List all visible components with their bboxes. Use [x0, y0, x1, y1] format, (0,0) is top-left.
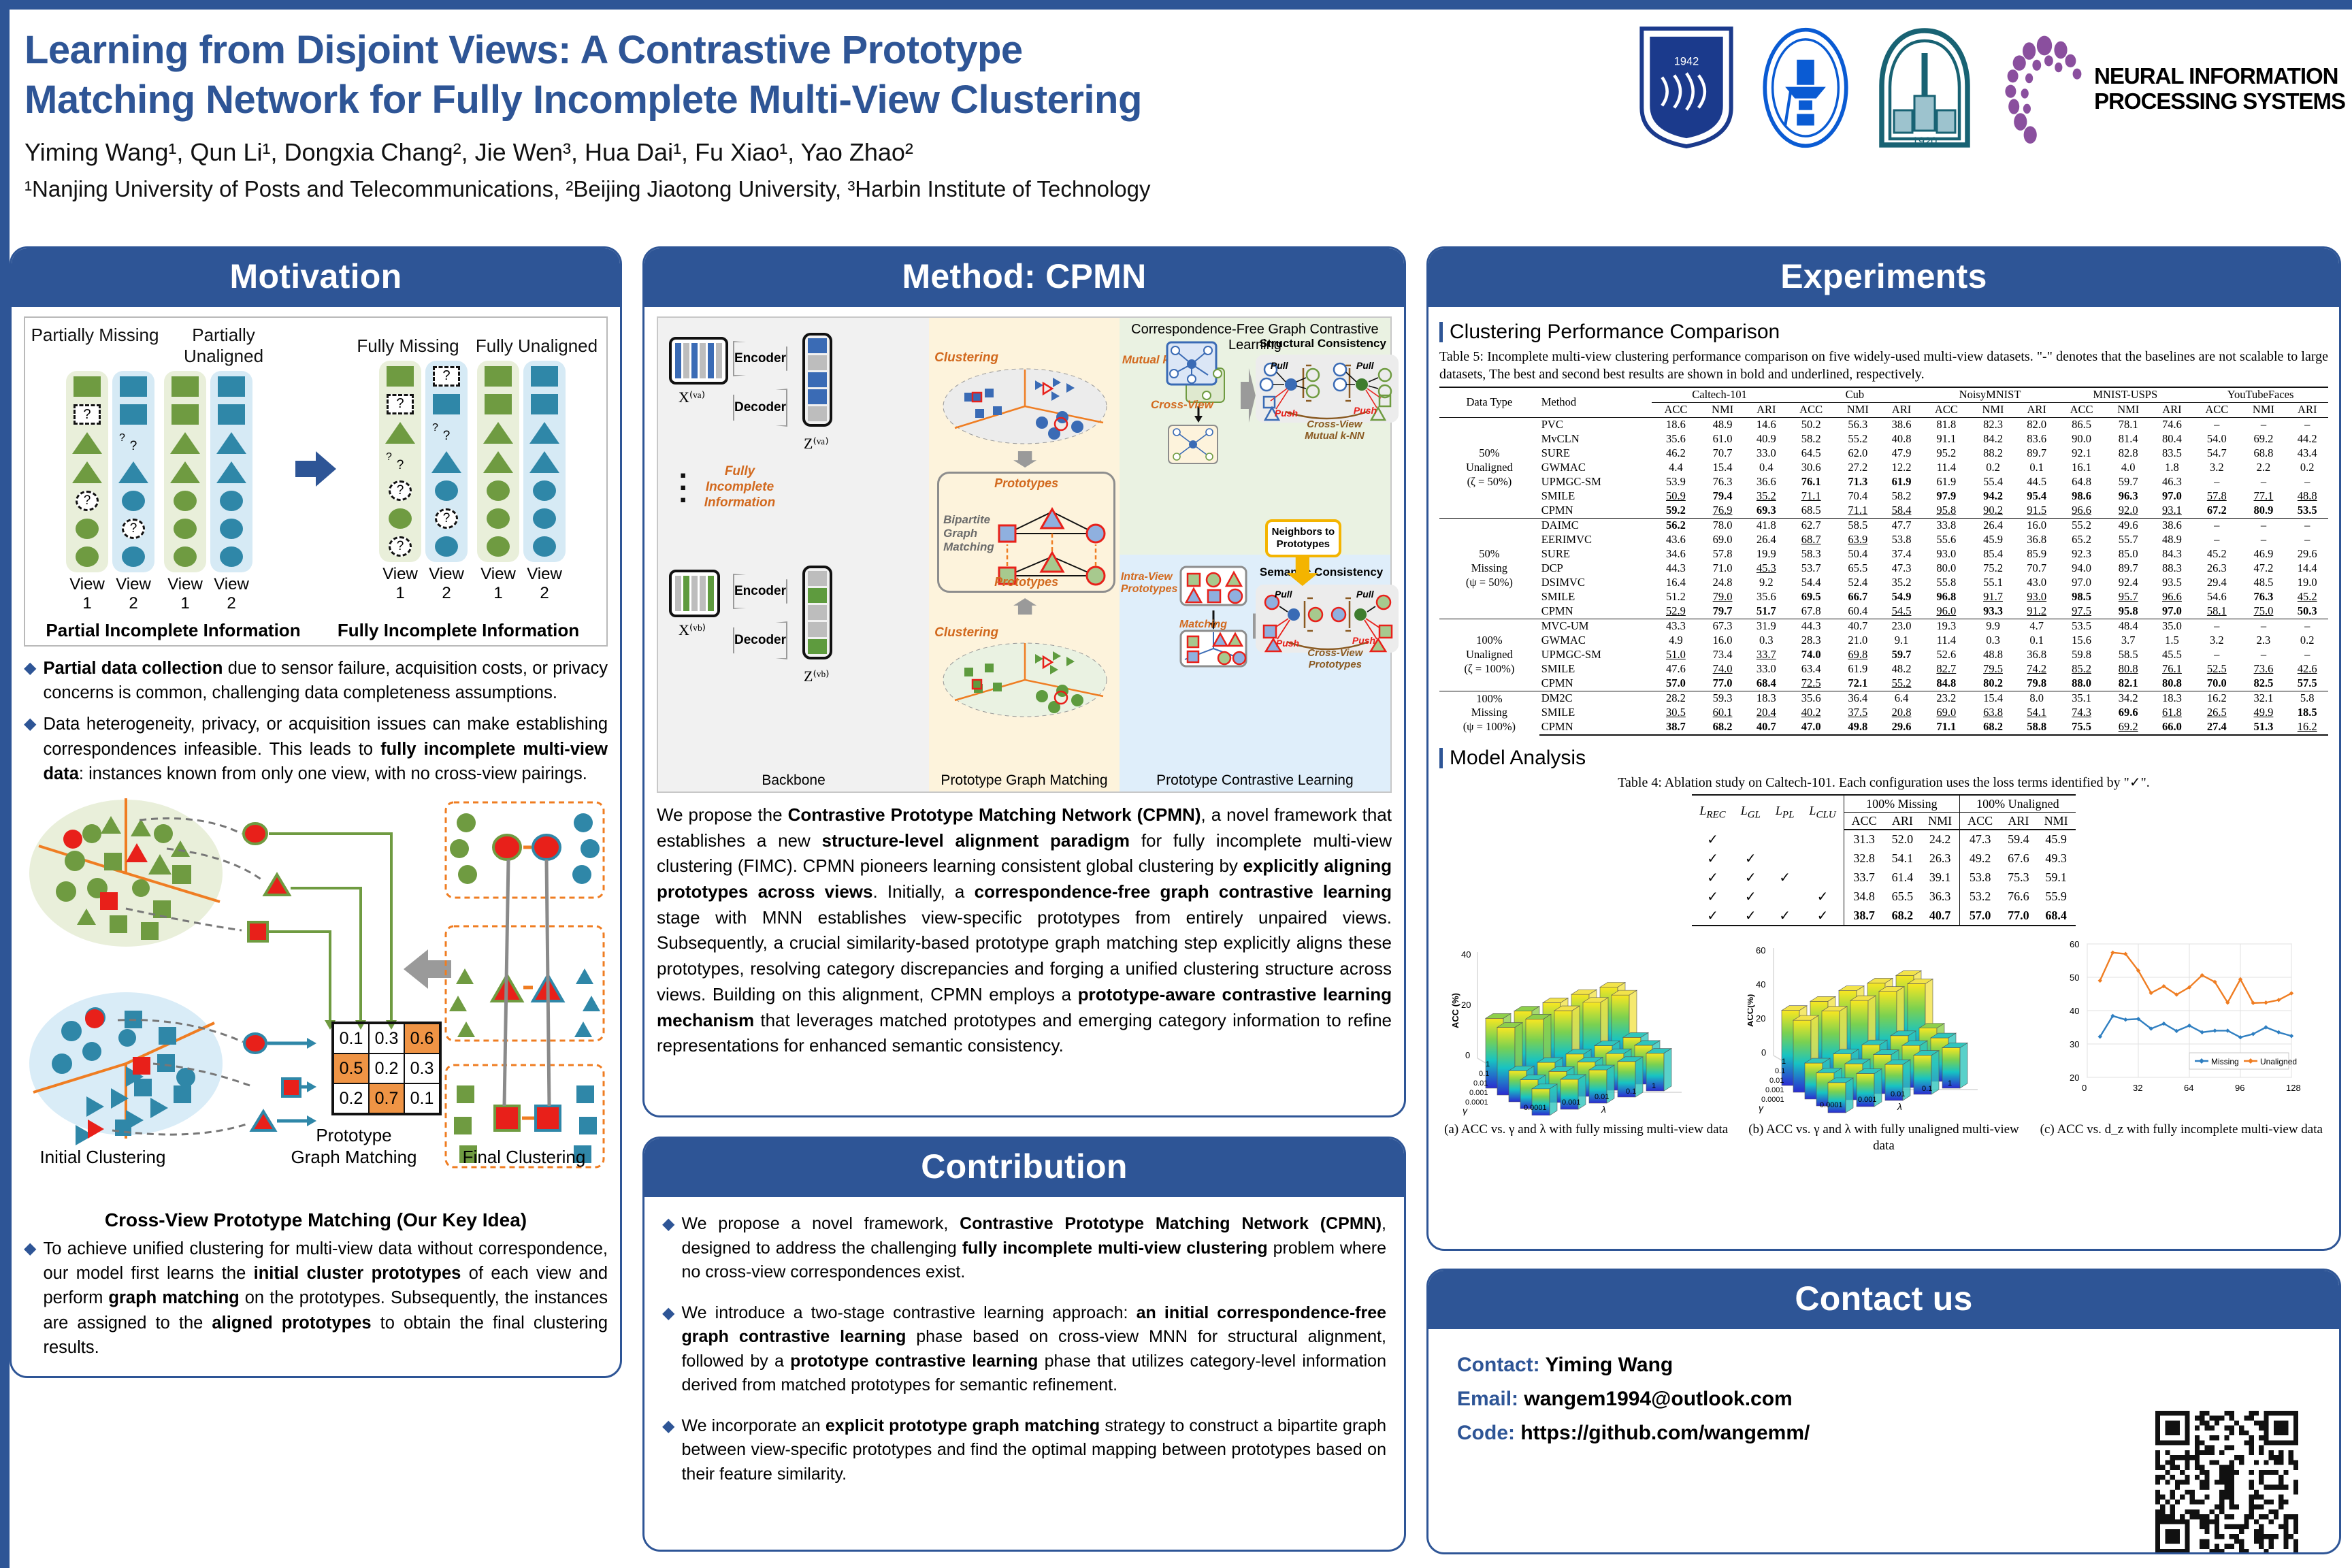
- metric-cell: 85.4: [1970, 547, 2016, 561]
- table-row: DSIMVC16.424.89.254.452.435.255.855.143.…: [1439, 576, 2328, 590]
- ablation-table-body: ✓31.352.024.247.359.445.9✓✓32.854.126.34…: [1692, 830, 2075, 926]
- dataset-header: YouTubeFaces: [2193, 387, 2328, 403]
- metric-cell: 38.7: [1652, 720, 1699, 735]
- njupt-logo: 1942: [1635, 24, 1737, 154]
- cb-1-0: We introduce a two-stage contrastive lea…: [681, 1303, 1136, 1322]
- metric-cell: 52.4: [1835, 576, 1880, 590]
- metric-cell: 91.2: [2016, 604, 2057, 619]
- metric-cell: 37.4: [1880, 547, 1922, 561]
- metric-cell: 51.7: [1746, 604, 1787, 619]
- ablation-value: 57.0: [1960, 906, 2001, 926]
- x-tick: 0.0001: [1524, 1104, 1547, 1112]
- metric-cell: 29.4: [2193, 576, 2240, 590]
- bullet-item: ◆ We propose a novel framework, Contrast…: [662, 1212, 1386, 1285]
- metric-cell: 57.5: [2286, 676, 2328, 691]
- method-cell: UPMGC-SM: [1539, 475, 1652, 489]
- ablation-value: 76.6: [2000, 887, 2037, 906]
- table-row: 50%Unaligned(ζ = 50%)PVC18.648.914.650.2…: [1439, 417, 2328, 432]
- push-label: Push: [1352, 635, 1375, 646]
- table-row: GWMAC4.916.00.328.321.09.111.40.30.115.6…: [1439, 634, 2328, 648]
- table-row: UPMGC-SM53.976.336.676.171.361.961.955.4…: [1439, 475, 2328, 489]
- table-row: CPMN52.979.751.767.860.454.596.093.391.2…: [1439, 604, 2328, 619]
- metric-cell: 57.8: [2193, 489, 2240, 504]
- y-tick: 20: [2070, 1073, 2079, 1083]
- table-row: EERIMVC43.669.026.468.763.953.855.645.93…: [1439, 533, 2328, 547]
- chart-c-caption: (c) ACC vs. d_z with fully incomplete mu…: [2035, 1122, 2328, 1138]
- metric-cell: 16.0: [1700, 634, 1746, 648]
- metric-cell: 19.0: [2286, 576, 2328, 590]
- ablation-value: 67.6: [2000, 849, 2037, 868]
- check-cell: ✓: [1768, 906, 1802, 926]
- metric-cell: 84.2: [1970, 432, 2016, 446]
- metric-cell: 74.3: [2057, 706, 2105, 720]
- prototype-contrastive-learning-block: Intra-View Prototypes: [1120, 555, 1390, 791]
- metric-cell: 28.2: [1652, 691, 1699, 706]
- diamond-bullet-icon: ◆: [24, 656, 36, 705]
- metric-cell: –: [2240, 533, 2286, 547]
- metric-cell: 96.6: [2151, 590, 2193, 604]
- x-tick: 0.001: [1562, 1098, 1581, 1107]
- ablation-metric: NMI: [1921, 813, 1960, 830]
- metric-cell: 81.8: [1923, 417, 1970, 432]
- bjtu-logo: [1762, 27, 1849, 152]
- matrix-cell: 0.1: [333, 1024, 369, 1053]
- bullet-item: ◆ We incorporate an explicit prototype g…: [662, 1414, 1386, 1487]
- x-tick: 0.0001: [1820, 1101, 1843, 1109]
- metric-cell: 28.3: [1787, 634, 1835, 648]
- metric-cell: 69.8: [1835, 648, 1880, 662]
- results-table: Data Type Method Caltech-101 Cub NoisyMN…: [1439, 387, 2328, 736]
- metric-cell: 16.2: [2286, 720, 2328, 735]
- metric-header: NMI: [1700, 402, 1746, 417]
- pcl-label: Prototype Contrastive Learning: [1120, 772, 1390, 789]
- ablation-value: 47.3: [1960, 830, 2001, 849]
- metric-cell: 0.2: [1970, 461, 2016, 475]
- fully-unaligned-label: Fully Unaligned: [472, 336, 601, 357]
- y-tick: 0.0001: [1465, 1098, 1488, 1107]
- metric-cell: 48.9: [1700, 417, 1746, 432]
- metric-cell: 95.7: [2106, 590, 2151, 604]
- metric-cell: 91.1: [1923, 432, 1970, 446]
- metric-cell: 29.6: [2286, 547, 2328, 561]
- metric-cell: 68.8: [2240, 446, 2286, 461]
- bullet-item: ◆ To achieve unified clustering for mult…: [24, 1237, 608, 1360]
- ablation-value: 36.3: [1921, 887, 1960, 906]
- metric-cell: 35.0: [2151, 619, 2193, 634]
- metric-cell: 85.2: [2057, 662, 2105, 676]
- y-tick: 30: [2070, 1039, 2079, 1049]
- metric-cell: 82.3: [1970, 417, 2016, 432]
- code-value[interactable]: https://github.com/wangemm/: [1515, 1422, 1810, 1444]
- fully-missing-label: Fully Missing: [344, 336, 472, 357]
- y-tick: 0.1: [1479, 1070, 1489, 1078]
- metric-cell: 96.3: [2106, 489, 2151, 504]
- metric-cell: 91.5: [2016, 504, 2057, 519]
- intra-view-prototypes-label: Intra-View Prototypes: [1121, 571, 1178, 596]
- metric-cell: 61.0: [1700, 432, 1746, 446]
- metric-cell: 14.6: [1746, 417, 1787, 432]
- table-row: DCP44.371.045.353.765.547.380.075.270.79…: [1439, 561, 2328, 576]
- metric-cell: 16.2: [2193, 691, 2240, 706]
- metric-cell: 93.0: [2016, 590, 2057, 604]
- ablation-row: ✓✓32.854.126.349.267.649.3: [1692, 849, 2075, 868]
- fully-incomplete-figure: Fully Missing Fully Unaligned ???? ???: [344, 336, 601, 603]
- table-row: CPMN38.768.240.747.049.829.671.168.258.8…: [1439, 720, 2328, 735]
- metric-cell: 96.8: [1923, 590, 1970, 604]
- ablation-value: 65.5: [1884, 887, 1921, 906]
- metric-cell: 74.0: [1787, 648, 1835, 662]
- metric-cell: 92.4: [2106, 576, 2151, 590]
- metric-cell: 47.3: [1880, 561, 1922, 576]
- pull-label: Pull: [1275, 589, 1292, 600]
- analysis-charts: 40 20 0 ACC (%) 10.1 0.010.001 0.0001 γ …: [1439, 932, 2328, 1154]
- metric-cell: 79.4: [1700, 489, 1746, 504]
- metric-cell: 53.8: [1880, 533, 1922, 547]
- clustering-performance-subheading: Clustering Performance Comparison: [1439, 321, 2328, 344]
- line-acc-vs-dz: 20304050600326496128 Missing Unaligned: [2045, 932, 2317, 1115]
- left-accent-bar: [0, 0, 10, 1568]
- metric-header: ACC: [1652, 402, 1699, 417]
- metric-cell: 56.3: [1835, 417, 1880, 432]
- key-idea-svg: [24, 793, 610, 1174]
- results-table-body: 50%Unaligned(ζ = 50%)PVC18.648.914.650.2…: [1439, 417, 2328, 735]
- down-arrow-icon: [1013, 451, 1036, 468]
- metric-cell: 23.2: [1923, 691, 1970, 706]
- bipartite-graph-matching-label: Bipartite Graph Matching: [943, 513, 988, 554]
- ablation-row: ✓31.352.024.247.359.445.9: [1692, 830, 2075, 849]
- metric-cell: 53.5: [2057, 619, 2105, 634]
- metric-cell: 57.0: [1652, 676, 1699, 691]
- matrix-cell: 0.2: [333, 1083, 369, 1113]
- metric-cell: 52.6: [1923, 648, 1970, 662]
- metric-cell: –: [2240, 518, 2286, 533]
- decoder-a: Decoder: [733, 389, 787, 427]
- method-heading: Method: CPMN: [644, 248, 1404, 307]
- metric-cell: 40.9: [1746, 432, 1787, 446]
- check-cell: [1801, 868, 1844, 887]
- xlabel: λ: [1601, 1104, 1606, 1115]
- data-type-cell: 100%Unaligned(ζ = 100%): [1439, 619, 1539, 691]
- metric-cell: 89.7: [2106, 561, 2151, 576]
- metric-cell: 51.0: [1652, 648, 1699, 662]
- ablation-value: 26.3: [1921, 849, 1960, 868]
- chart-a-caption: (a) ACC vs. γ and λ with fully missing m…: [1439, 1122, 1733, 1138]
- zlabel: ACC(%): [1748, 994, 1755, 1027]
- metric-cell: 35.2: [1746, 489, 1787, 504]
- metric-cell: 9.1: [1880, 634, 1922, 648]
- metric-cell: 74.2: [2016, 662, 2057, 676]
- metric-cell: 43.3: [1652, 619, 1699, 634]
- metric-cell: 20.4: [1746, 706, 1787, 720]
- check-cell: ✓: [1801, 906, 1844, 926]
- ablation-value: 24.2: [1921, 830, 1960, 849]
- metric-cell: 79.5: [1970, 662, 2016, 676]
- metric-cell: 34.6: [1652, 547, 1699, 561]
- method-cell: SMILE: [1539, 590, 1652, 604]
- metric-cell: 36.6: [1746, 475, 1787, 489]
- metric-cell: 44.2: [2286, 432, 2328, 446]
- metric-cell: 55.2: [2057, 518, 2105, 533]
- metric-cell: 11.4: [1923, 634, 1970, 648]
- metric-cell: 75.5: [2057, 720, 2105, 735]
- matrix-cell: 0.5: [333, 1053, 369, 1083]
- latent-z-a: [802, 333, 832, 427]
- legend-unaligned: Unaligned: [2260, 1057, 2297, 1066]
- z-tick-60: 60: [1756, 945, 1765, 955]
- mb7: correspondence-free graph contrastive le…: [975, 881, 1392, 902]
- metric-cell: 40.2: [1787, 706, 1835, 720]
- metric-cell: 97.5: [2057, 604, 2105, 619]
- metric-cell: 95.2: [1923, 446, 1970, 461]
- metric-cell: 53.7: [1787, 561, 1835, 576]
- semantic-consistency-label: Semantic Consistency: [1260, 566, 1383, 579]
- ablation-value: 53.8: [1960, 868, 2001, 887]
- svg-text:1942: 1942: [1674, 56, 1699, 68]
- metric-cell: 11.4: [1923, 461, 1970, 475]
- view1-label: View 1: [477, 565, 519, 603]
- neurips-logo: NEURAL INFORMATION PROCESSING SYSTEMS: [2000, 35, 2345, 144]
- metric-cell: 47.0: [1787, 720, 1835, 735]
- z-tick-0: 0: [1761, 1047, 1766, 1058]
- metric-cell: 45.3: [1746, 561, 1787, 576]
- diamond-bullet-icon: ◆: [662, 1301, 674, 1398]
- cross-view-prototype-figure: 0.1 0.3 0.6 0.5 0.2 0.3 0.2 0.7 0.1 Init…: [24, 793, 608, 1208]
- metric-cell: 58.3: [1787, 547, 1835, 561]
- metric-cell: 2.3: [2240, 634, 2286, 648]
- final-clustering-label: Final Clustering: [446, 1147, 602, 1168]
- ylabel: γ: [1463, 1105, 1468, 1115]
- table-row: SURE34.657.819.958.350.437.493.085.485.9…: [1439, 547, 2328, 561]
- ablation-value: 59.4: [2000, 830, 2037, 849]
- check-cell: ✓: [1692, 868, 1733, 887]
- metric-cell: 68.4: [1746, 676, 1787, 691]
- metric-cell: 68.5: [1787, 504, 1835, 519]
- metric-cell: 97.0: [2151, 604, 2193, 619]
- encoder-b: Encoder: [733, 574, 787, 609]
- email-value[interactable]: wangem1994@outlook.com: [1518, 1388, 1793, 1410]
- contact-name-row: Contact: Yiming Wang: [1457, 1354, 2316, 1377]
- metric-cell: 62.7: [1787, 518, 1835, 533]
- motivation-heading: Motivation: [12, 248, 620, 307]
- method-cell: SMILE: [1539, 489, 1652, 504]
- partially-unaligned-label: Partially Unaligned: [159, 325, 288, 367]
- metric-cell: 59.2: [1652, 504, 1699, 519]
- data-type-cell: 50%Missing(ψ = 50%): [1439, 518, 1539, 619]
- metric-header: ARI: [1746, 402, 1787, 417]
- contact-panel: Contact us Contact: Yiming Wang Email: w…: [1426, 1269, 2341, 1554]
- check-cell: ✓: [1733, 849, 1768, 868]
- x-tick: 32: [2133, 1083, 2142, 1093]
- pull-label: Pull: [1356, 589, 1374, 600]
- metric-cell: 18.3: [2151, 691, 2193, 706]
- metric-cell: 16.1: [2057, 461, 2105, 475]
- metric-cell: –: [2240, 475, 2286, 489]
- matrix-cell: 0.6: [404, 1024, 440, 1053]
- metric-cell: 74.0: [1700, 662, 1746, 676]
- metric-cell: 41.8: [1746, 518, 1787, 533]
- metric-cell: 95.8: [2106, 604, 2151, 619]
- metric-cell: 75.2: [1970, 561, 2016, 576]
- metric-cell: 98.5: [2057, 590, 2105, 604]
- y-tick: 50: [2070, 973, 2079, 983]
- metric-cell: 45.9: [1970, 533, 2016, 547]
- metric-cell: 77.0: [1700, 676, 1746, 691]
- bullet-item: ◆ Partial data collection due to sensor …: [24, 656, 608, 705]
- col-datatype: Data Type: [1439, 387, 1539, 418]
- metric-cell: 68.2: [1970, 720, 2016, 735]
- metric-cell: 15.4: [1970, 691, 2016, 706]
- metric-cell: 57.8: [1700, 547, 1746, 561]
- metric-cell: 50.3: [2286, 604, 2328, 619]
- metric-cell: –: [2193, 518, 2240, 533]
- partial-incomplete-figure: Partially Missing Partially Unaligned ??…: [31, 325, 288, 613]
- dataset-header: Cub: [1787, 387, 1923, 403]
- structural-consistency-label: Structural Consistency: [1260, 337, 1406, 350]
- metric-cell: 65.5: [1835, 561, 1880, 576]
- final-bullet-s1: initial cluster prototypes: [254, 1264, 461, 1283]
- dataset-header: MNIST-USPS: [2057, 387, 2193, 403]
- metric-cell: 78.1: [2106, 417, 2151, 432]
- chart-b: 60 40 20 0 ACC(%) 10.1 0.010.001 0.0001 …: [1737, 932, 2030, 1154]
- mb3: structure-level alignment paradigm: [822, 830, 1130, 851]
- metric-cell: 35.6: [1652, 432, 1699, 446]
- metric-cell: 4.0: [2106, 461, 2151, 475]
- metric-header: NMI: [2240, 402, 2286, 417]
- metric-cell: 80.0: [1923, 561, 1970, 576]
- neighbors-to-prototypes-callout: Neighbors to Prototypes: [1265, 519, 1341, 557]
- metric-cell: 45.2: [2193, 547, 2240, 561]
- ablation-value: 55.9: [2037, 887, 2076, 906]
- dataset-header: NoisyMNIST: [1923, 387, 2058, 403]
- ablation-value: 59.1: [2037, 868, 2076, 887]
- x-tick: 0.1: [1626, 1088, 1636, 1096]
- metric-cell: 69.5: [1787, 590, 1835, 604]
- input-x-b: [669, 570, 720, 617]
- metric-cell: 15.6: [2057, 634, 2105, 648]
- metric-cell: 43.4: [2286, 446, 2328, 461]
- method-cell: DSIMVC: [1539, 576, 1652, 590]
- metric-header: ARI: [2286, 402, 2328, 417]
- fully-incomplete-note: Fully Incomplete Information: [699, 464, 781, 510]
- metric-cell: 9.2: [1746, 576, 1787, 590]
- metric-cell: 3.2: [2193, 461, 2240, 475]
- contact-email-row[interactable]: Email: wangem1994@outlook.com: [1457, 1388, 2316, 1411]
- metric-cell: 49.8: [1835, 720, 1880, 735]
- clustering-label-top: Clustering: [934, 350, 998, 365]
- ablation-value: 53.2: [1960, 887, 2001, 906]
- metric-cell: 67.8: [1787, 604, 1835, 619]
- metric-cell: 3.2: [2193, 634, 2240, 648]
- metric-cell: 35.6: [1787, 691, 1835, 706]
- metric-cell: 79.8: [2016, 676, 2057, 691]
- metric-cell: 68.2: [1700, 720, 1746, 735]
- metric-cell: 58.5: [1835, 518, 1880, 533]
- metric-cell: 46.3: [2151, 475, 2193, 489]
- metric-cell: 4.9: [1652, 634, 1699, 648]
- table-row: MvCLN35.661.040.958.255.240.891.184.283.…: [1439, 432, 2328, 446]
- motivation-panel: Motivation Partially Missing Partially U…: [10, 246, 622, 1378]
- qr-code[interactable]: [2155, 1411, 2298, 1554]
- clustering-label-bottom: Clustering: [934, 625, 998, 640]
- top-cluster-scatter: [933, 365, 1117, 447]
- metric-cell: 82.1: [2106, 676, 2151, 691]
- method-cell: CPMN: [1539, 504, 1652, 519]
- motivation-figure: Partially Missing Partially Unaligned ??…: [24, 316, 608, 647]
- metric-cell: –: [2286, 518, 2328, 533]
- code-key: Code:: [1457, 1422, 1515, 1444]
- metric-cell: 30.5: [1652, 706, 1699, 720]
- metric-cell: 61.8: [2151, 706, 2193, 720]
- table-row: SMILE30.560.120.440.237.520.869.063.854.…: [1439, 706, 2328, 720]
- method-cell: CPMN: [1539, 604, 1652, 619]
- metric-cell: 85.0: [2106, 547, 2151, 561]
- metric-cell: 15.4: [1700, 461, 1746, 475]
- email-key: Email:: [1457, 1388, 1518, 1410]
- metric-cell: 83.6: [2016, 432, 2057, 446]
- metric-header: ARI: [1880, 402, 1922, 417]
- cb-1-3: prototype contrastive learning: [790, 1352, 1038, 1371]
- x-tick: 96: [2235, 1083, 2244, 1093]
- metric-cell: 26.4: [1746, 533, 1787, 547]
- metric-cell: 51.3: [2240, 720, 2286, 735]
- metric-cell: 97.0: [2151, 489, 2193, 504]
- metric-cell: 83.5: [2151, 446, 2193, 461]
- ablation-group-unaligned: 100% Unaligned: [1960, 795, 2076, 813]
- input-x-a: [669, 337, 728, 385]
- decoder-b: Decoder: [733, 621, 787, 659]
- bar3d-unaligned: 60 40 20 0 ACC(%) 10.1 0.010.001 0.0001 …: [1748, 932, 2020, 1115]
- metric-cell: 58.2: [1787, 432, 1835, 446]
- zlabel: ACC (%): [1450, 993, 1460, 1028]
- cross-view-mutual-knn-label: Cross-View Mutual k-NN: [1294, 419, 1375, 442]
- metric-cell: 47.9: [1880, 446, 1922, 461]
- metric-cell: 0.1: [2016, 461, 2057, 475]
- table-row: GWMAC4.415.40.430.627.212.211.40.20.116.…: [1439, 461, 2328, 475]
- method-cell: MvCLN: [1539, 432, 1652, 446]
- metric-cell: 80.8: [2151, 676, 2193, 691]
- table-row: CPMN57.077.068.472.572.155.284.880.279.8…: [1439, 676, 2328, 691]
- metric-cell: 51.2: [1652, 590, 1699, 604]
- final-bullet-s2: graph matching: [108, 1288, 239, 1307]
- method-cell: MVC-UM: [1539, 619, 1652, 634]
- ablation-value: 45.9: [2037, 830, 2076, 849]
- view2-label: View 2: [425, 565, 468, 603]
- metric-cell: 48.2: [1880, 662, 1922, 676]
- metric-cell: 19.9: [1746, 547, 1787, 561]
- partial-incomplete-caption: Partial Incomplete Information: [31, 620, 316, 641]
- metric-cell: 95.8: [1923, 504, 1970, 519]
- ylabel: γ: [1759, 1102, 1764, 1113]
- metric-cell: 92.1: [2057, 446, 2105, 461]
- metric-cell: 89.7: [2016, 446, 2057, 461]
- table-row: SURE46.270.733.064.562.047.995.288.289.7…: [1439, 446, 2328, 461]
- metric-cell: 54.0: [2193, 432, 2240, 446]
- metric-cell: –: [2286, 533, 2328, 547]
- metric-cell: 94.2: [1970, 489, 2016, 504]
- metric-cell: 0.3: [1970, 634, 2016, 648]
- matching-label: Matching: [1179, 619, 1227, 631]
- y-tick: 0.001: [1469, 1089, 1488, 1097]
- metric-cell: 18.6: [1652, 417, 1699, 432]
- metric-cell: 44.3: [1652, 561, 1699, 576]
- metric-cell: 64.5: [1787, 446, 1835, 461]
- diamond-bullet-icon: ◆: [662, 1414, 674, 1487]
- metric-cell: 91.7: [1970, 590, 2016, 604]
- metric-cell: 76.3: [1700, 475, 1746, 489]
- metric-cell: 68.7: [1787, 533, 1835, 547]
- metric-cell: 47.6: [1652, 662, 1699, 676]
- metric-cell: 86.5: [2057, 417, 2105, 432]
